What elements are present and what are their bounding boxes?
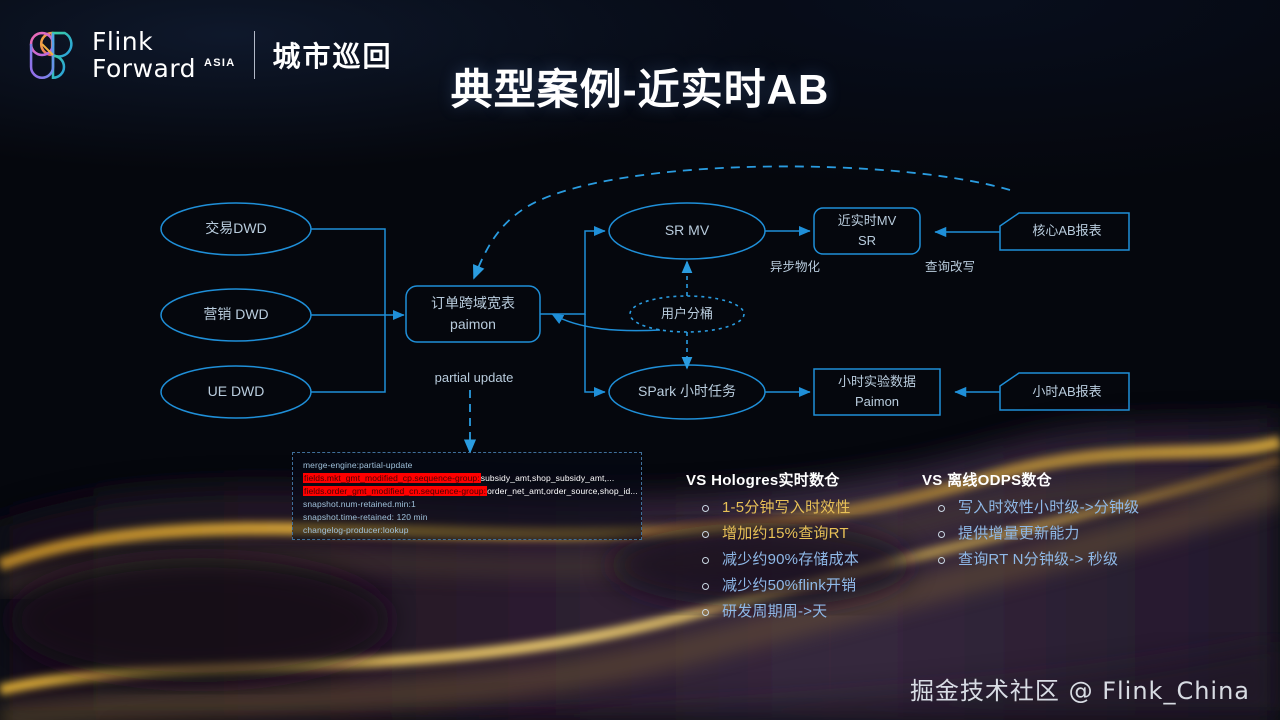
list-item: 查询RT N分钟级-> 秒级 — [922, 551, 1212, 569]
list-item: 减少约50%flink开销 — [686, 577, 916, 595]
comparison-heading: VS 离线ODPS数仓 — [922, 469, 1212, 490]
code-line: snapshot.num-retained.min:1 — [303, 498, 631, 511]
node-trade-dwd — [161, 203, 311, 255]
watermark-text: 掘金技术社区 @ Flink_China — [910, 671, 1250, 706]
bullet-circle-icon — [938, 505, 945, 512]
node-core-ab-report — [1000, 213, 1129, 250]
node-marketing-dwd — [161, 289, 311, 341]
code-line: changelog-producer:lookup — [303, 524, 631, 537]
bullet-circle-icon — [702, 583, 709, 590]
node-near-realtime-mv — [814, 208, 920, 254]
comparison-item-text: 1-5分钟写入时效性 — [722, 499, 851, 517]
code-line-rest: order_net_amt,order_source,shop_id... — [487, 486, 638, 496]
list-item: 增加约15%查询RT — [686, 525, 916, 543]
node-user-bucket — [630, 296, 744, 332]
node-sr-mv — [609, 203, 765, 259]
comparison-item-text: 提供增量更新能力 — [958, 525, 1080, 543]
code-highlight-mark: fields.mkt_gmt_modified_cp.sequence-grou… — [303, 473, 481, 483]
list-item: 提供增量更新能力 — [922, 525, 1212, 543]
comparison-item-text: 写入时效性小时级->分钟级 — [958, 499, 1139, 517]
code-line: merge-engine:partial-update — [303, 459, 631, 472]
comparison-item-text: 研发周期周->天 — [722, 603, 827, 621]
list-item: 减少约90%存储成本 — [686, 551, 916, 569]
code-highlight-mark: fields.order_gmt_modified_cn.sequence-gr… — [303, 486, 487, 496]
node-hourly-exp-data — [814, 369, 940, 415]
bullet-circle-icon — [702, 557, 709, 564]
node-ue-dwd — [161, 366, 311, 418]
bullet-circle-icon — [702, 609, 709, 616]
comparison-item-text: 减少约50%flink开销 — [722, 577, 856, 595]
list-item: 1-5分钟写入时效性 — [686, 499, 916, 517]
bullet-circle-icon — [938, 557, 945, 564]
node-spark-hourly — [609, 365, 765, 419]
list-item: 研发周期周->天 — [686, 603, 916, 621]
paimon-config-code-block: merge-engine:partial-update fields.mkt_g… — [292, 452, 642, 540]
comparison-heading: VS Hologres实时数仓 — [686, 469, 916, 490]
code-line-rest: subsidy_amt,shop_subsidy_amt,... — [481, 473, 615, 483]
code-line-highlighted: fields.order_gmt_modified_cn.sequence-gr… — [303, 485, 631, 498]
comparison-item-text: 增加约15%查询RT — [722, 525, 849, 543]
list-item: 写入时效性小时级->分钟级 — [922, 499, 1212, 517]
bullet-circle-icon — [938, 531, 945, 538]
code-line-highlighted: fields.mkt_gmt_modified_cp.sequence-grou… — [303, 472, 631, 485]
comparison-odps: VS 离线ODPS数仓 写入时效性小时级->分钟级 提供增量更新能力 查询RT … — [922, 469, 1212, 577]
architecture-diagram — [0, 0, 1280, 720]
bullet-circle-icon — [702, 531, 709, 538]
bullet-circle-icon — [702, 505, 709, 512]
comparison-item-text: 查询RT N分钟级-> 秒级 — [958, 551, 1118, 569]
comparison-item-text: 减少约90%存储成本 — [722, 551, 859, 569]
code-line: snapshot.time-retained: 120 min — [303, 511, 631, 524]
node-order-wide-table — [406, 286, 540, 342]
comparison-hologres: VS Hologres实时数仓 1-5分钟写入时效性 增加约15%查询RT 减少… — [686, 469, 916, 629]
node-hourly-ab-report — [1000, 373, 1129, 410]
